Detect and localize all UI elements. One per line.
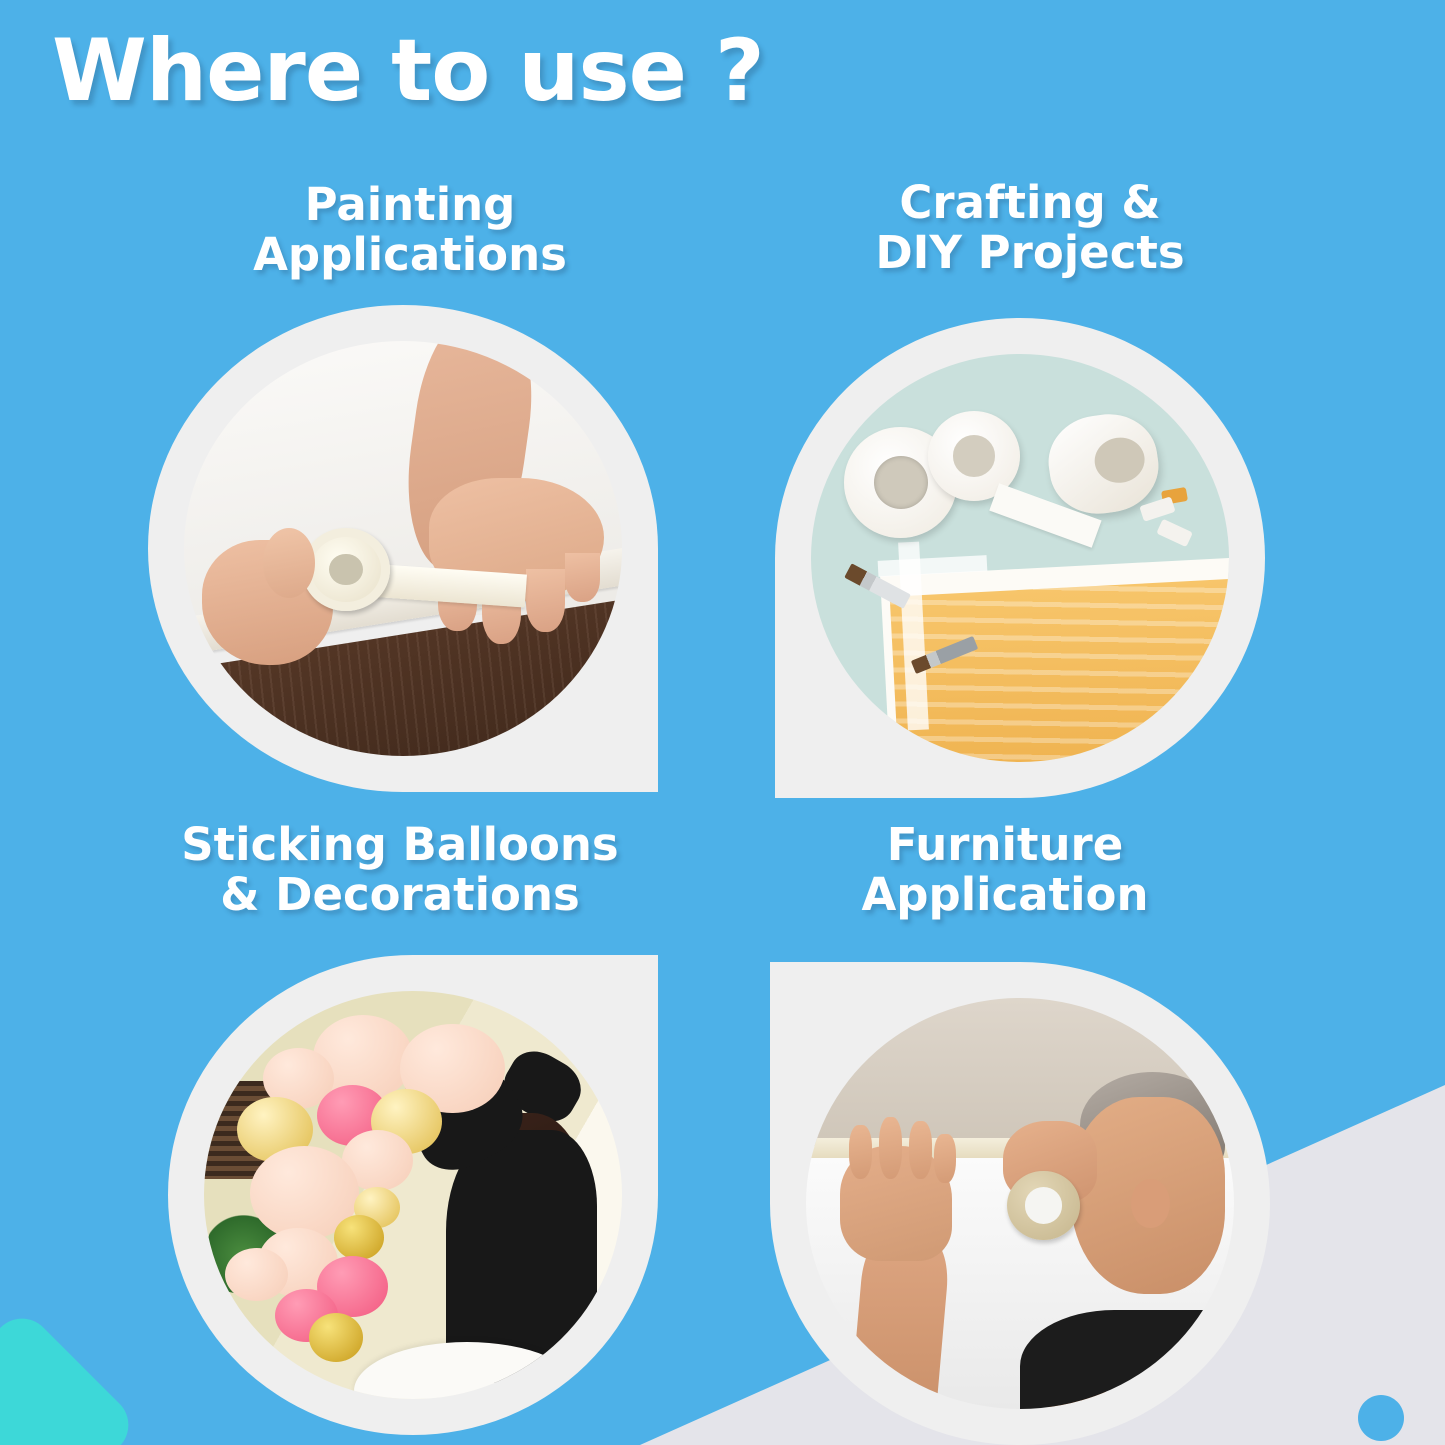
photo-painting-applications [184,341,622,756]
card-title-painting-applications: Painting Applications [140,180,680,281]
card-title-furniture-application: Furniture Application [790,820,1220,921]
card-title-sticking-balloons-decorations: Sticking Balloons & Decorations [120,820,680,921]
blue-circle-decoration [1358,1395,1404,1441]
photo-crafting-diy-projects [811,354,1229,762]
photo-frame-painting-applications [148,305,658,792]
photo-furniture-application [806,998,1234,1409]
photo-frame-furniture-application [770,962,1270,1445]
photo-frame-sticking-balloons-decorations [168,955,658,1435]
photo-frame-crafting-diy-projects [775,318,1265,798]
card-title-crafting-diy-projects: Crafting & DIY Projects [790,178,1270,279]
teal-square-decoration [0,1306,141,1445]
photo-sticking-balloons-decorations [204,991,622,1399]
page-title: Where to use ? [52,28,764,114]
poster-canvas: Where to use ? Painting Applications Cra… [0,0,1445,1445]
